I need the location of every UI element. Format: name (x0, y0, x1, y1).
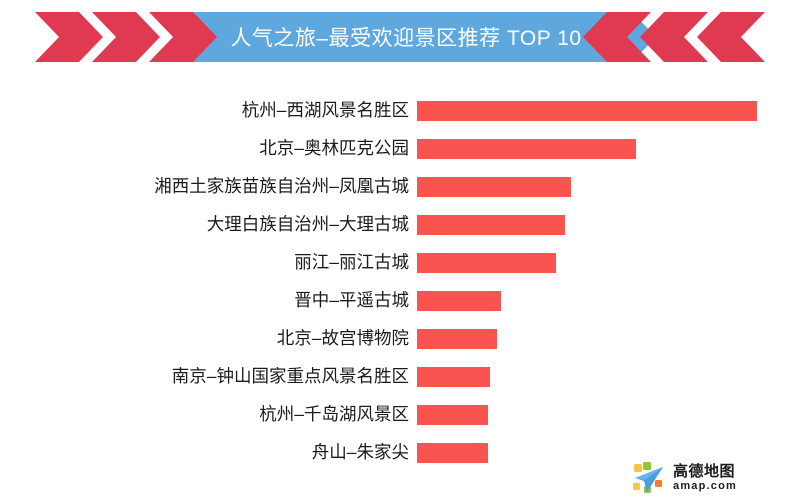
chevron-icon (697, 12, 765, 62)
chart-row[interactable]: 湘西土家族苗族自治州–凤凰古城 (0, 172, 800, 202)
bar[interactable] (417, 405, 488, 425)
bar[interactable] (417, 291, 501, 311)
bar-track (409, 362, 800, 392)
chart-row[interactable]: 丽江–丽江古城 (0, 248, 800, 278)
bar[interactable] (417, 215, 565, 235)
chart-row[interactable]: 晋中–平遥古城 (0, 286, 800, 316)
bar-track (409, 286, 800, 316)
bar-track (409, 96, 800, 126)
bar[interactable] (417, 139, 636, 159)
amap-arrow-icon (632, 461, 666, 495)
bar[interactable] (417, 367, 490, 387)
amap-logo-text: 高德地图 amap.com (673, 464, 737, 492)
chart-row[interactable]: 南京–钟山国家重点风景名胜区 (0, 362, 800, 392)
bar[interactable] (417, 443, 488, 463)
bar-category-label: 北京–奥林匹克公园 (0, 140, 409, 158)
infographic-page: 人气之旅–最受欢迎景区推荐 TOP 10 杭州–西湖风景名胜区北京–奥林匹克公园… (0, 0, 800, 501)
bar-track (409, 134, 800, 164)
amap-logo: 高德地图 amap.com (632, 459, 780, 497)
page-title: 人气之旅–最受欢迎景区推荐 TOP 10 (180, 12, 632, 62)
bar-track (409, 210, 800, 240)
bar[interactable] (417, 329, 497, 349)
bar-category-label: 北京–故宫博物院 (0, 330, 409, 348)
bar-track (409, 324, 800, 354)
title-banner: 人气之旅–最受欢迎景区推荐 TOP 10 (0, 0, 800, 78)
bar-category-label: 大理白族自治州–大理古城 (0, 216, 409, 234)
bar-category-label: 杭州–西湖风景名胜区 (0, 102, 409, 120)
amap-mark-graphic (632, 461, 666, 495)
bar-category-label: 舟山–朱家尖 (0, 444, 409, 462)
chart-row[interactable]: 北京–奥林匹克公园 (0, 134, 800, 164)
bar[interactable] (417, 177, 571, 197)
bar-category-label: 丽江–丽江古城 (0, 254, 409, 272)
bar-category-label: 湘西土家族苗族自治州–凤凰古城 (0, 178, 409, 196)
bar-category-label: 南京–钟山国家重点风景名胜区 (0, 368, 409, 386)
bar-track (409, 248, 800, 278)
chart-row[interactable]: 杭州–千岛湖风景区 (0, 400, 800, 430)
bar-category-label: 杭州–千岛湖风景区 (0, 406, 409, 424)
bar[interactable] (417, 253, 556, 273)
bar-track (409, 400, 800, 430)
chevron-icon (35, 12, 103, 62)
amap-name-en: amap.com (673, 481, 737, 492)
chart-row[interactable]: 大理白族自治州–大理古城 (0, 210, 800, 240)
bar-category-label: 晋中–平遥古城 (0, 292, 409, 310)
bar-chart: 杭州–西湖风景名胜区北京–奥林匹克公园湘西土家族苗族自治州–凤凰古城大理白族自治… (0, 95, 800, 501)
bar[interactable] (417, 101, 757, 121)
bar-track (409, 172, 800, 202)
chart-row[interactable]: 北京–故宫博物院 (0, 324, 800, 354)
amap-name-cn: 高德地图 (673, 464, 737, 479)
chart-row[interactable]: 杭州–西湖风景名胜区 (0, 96, 800, 126)
